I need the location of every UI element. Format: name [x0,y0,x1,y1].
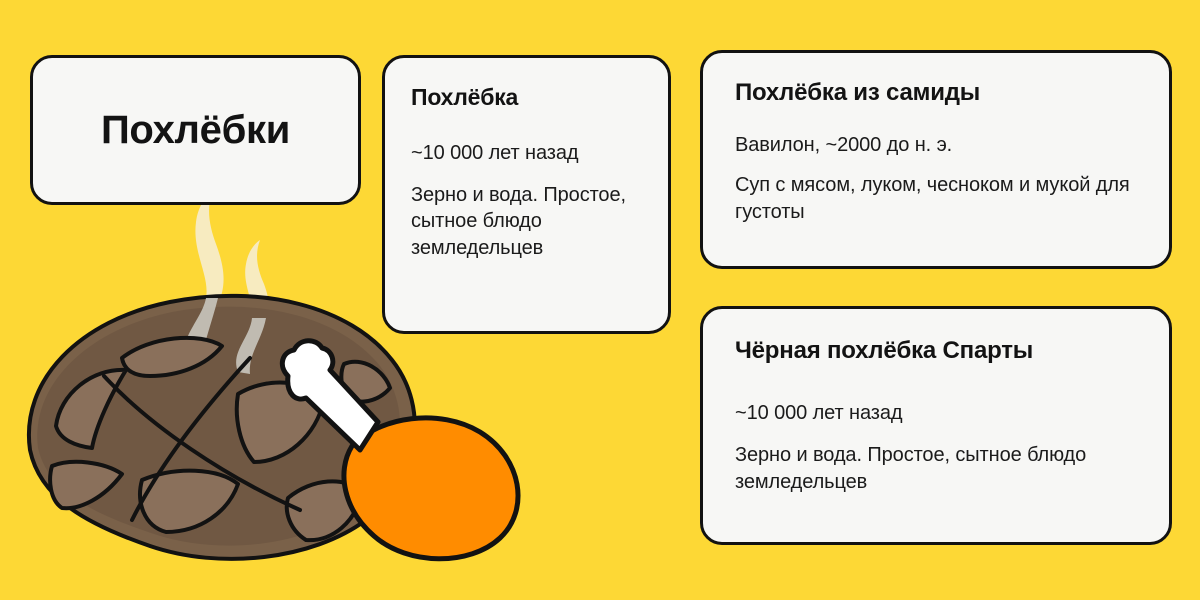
steam-group [184,192,269,374]
drumstick-group [282,341,518,559]
infographic-canvas: Похлёбки Похлёбка ~10 000 лет назад Зерн… [0,0,1200,600]
steam-over-loaf-right [236,318,266,374]
card-description-pohlebka: Зерно и вода. Простое, сытное блюдо земл… [411,182,644,261]
card-era-sparta: ~10 000 лет назад [735,400,1145,426]
card-description-sparta: Зерно и вода. Простое, сытное блюдо земл… [735,442,1145,495]
steam-over-loaf-left [184,298,218,366]
loaf-score-lines [104,358,300,520]
card-heading-pohlebka: Похлёбка [411,84,644,112]
loaf-shape [29,296,415,559]
steam-wisp-left-icon [184,192,224,366]
loaf-group [29,296,415,559]
card-description-samida: Суп с мясом, луком, чесноком и мукой для… [735,172,1145,225]
card-era-pohlebka: ~10 000 лет назад [411,140,644,166]
steam-over-loaf [184,298,266,374]
loaf-panel-upper-right [237,383,324,462]
loaf-panel-far-right [341,362,390,402]
loaf-panel-center [140,471,238,532]
loaf-panel-upper-left [56,370,126,448]
drumstick-shape [344,418,518,559]
title-card: Похлёбки [30,55,361,205]
bone-shape [282,341,378,450]
loaf-panel-left [50,462,122,508]
info-card-pohlebka: Похлёбка ~10 000 лет назад Зерно и вода.… [382,55,671,334]
info-card-sparta: Чёрная похлёбка Спарты ~10 000 лет назад… [700,306,1172,545]
page-title: Похлёбки [101,108,290,152]
loaf-panel-right [287,481,362,540]
card-heading-sparta: Чёрная похлёбка Спарты [735,337,1145,366]
loaf-inner-mass [37,307,400,546]
info-card-samida: Похлёбка из самиды Вавилон, ~2000 до н. … [700,50,1172,269]
card-heading-samida: Похлёбка из самиды [735,79,1145,108]
steam-wisp-right-icon [236,240,269,374]
card-era-samida: Вавилон, ~2000 до н. э. [735,132,1145,158]
loaf-panel-top [122,338,222,376]
loaf-lattice-pattern [50,338,390,540]
